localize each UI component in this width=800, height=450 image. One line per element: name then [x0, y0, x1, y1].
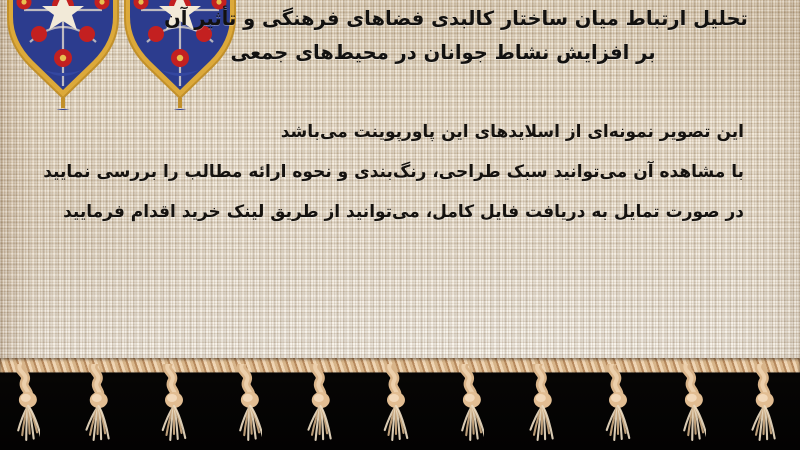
presentation-slide: تحلیل ارتباط میان ساختار کالبدی فضاهای ف… — [0, 0, 800, 450]
tassel — [376, 364, 410, 448]
tassel — [6, 364, 40, 448]
tassel — [598, 364, 632, 448]
slide-body: این تصویر نمونه‌ای از اسلایدهای این پاور… — [44, 112, 744, 232]
tassel — [302, 364, 336, 448]
tassel — [80, 364, 114, 448]
title-line-1: تحلیل ارتباط میان ساختار کالبدی فضاهای ف… — [136, 2, 776, 36]
slide-text-layer: تحلیل ارتباط میان ساختار کالبدی فضاهای ف… — [0, 0, 800, 392]
carpet-fringe-area — [0, 358, 800, 450]
body-line-3: در صورت تمایل به دریافت فایل کامل، می‌تو… — [44, 192, 744, 232]
slide-title: تحلیل ارتباط میان ساختار کالبدی فضاهای ف… — [136, 2, 776, 70]
body-line-1: این تصویر نمونه‌ای از اسلایدهای این پاور… — [44, 112, 744, 152]
tassel — [746, 364, 780, 448]
tassel — [524, 364, 558, 448]
tassel — [450, 364, 484, 448]
body-line-2: با مشاهده آن می‌توانید سبک طراحی، رنگ‌بن… — [44, 152, 744, 192]
tassel — [154, 364, 188, 448]
tassel — [672, 364, 706, 448]
title-line-2: بر افزایش نشاط جوانان در محیط‌های جمعی — [136, 36, 776, 70]
tassel — [228, 364, 262, 448]
